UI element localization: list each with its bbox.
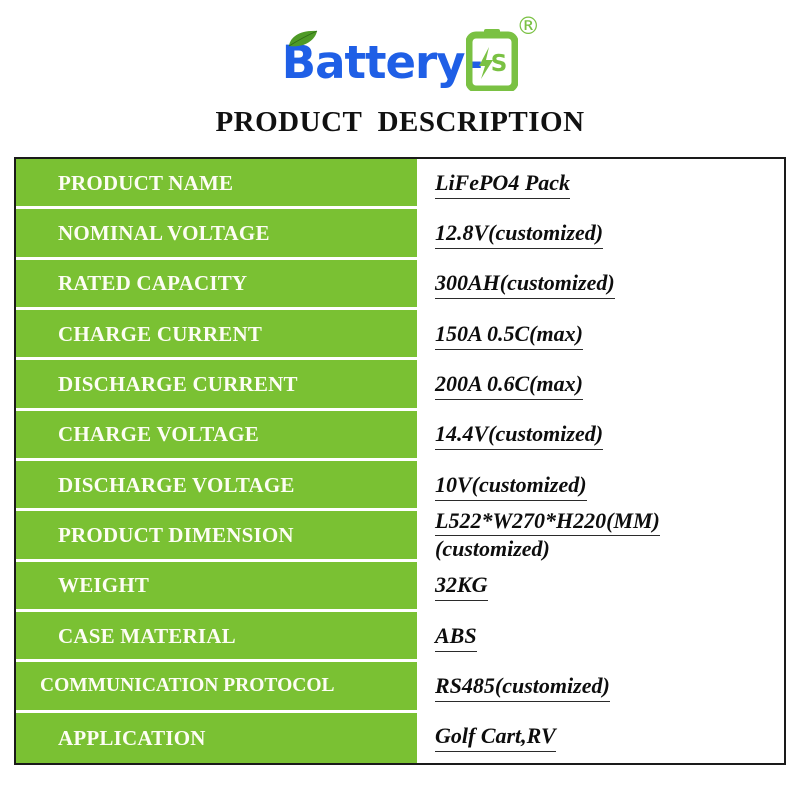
spec-label-discharge-current: DISCHARGE CURRENT xyxy=(16,360,417,410)
table-row: CHARGE VOLTAGE 14.4V(customized) xyxy=(16,411,784,461)
battery-icon-letter: S xyxy=(491,51,508,77)
spec-label-discharge-voltage: DISCHARGE VOLTAGE xyxy=(16,461,417,511)
leaf-icon xyxy=(288,30,318,47)
product-description-page: Battery- S ® PRODUCT DESCRIPTION xyxy=(0,0,800,800)
spec-value-case-material: ABS xyxy=(417,612,784,662)
table-row: DISCHARGE CURRENT 200A 0.6C(max) xyxy=(16,360,784,410)
spec-value-text: LiFePO4 Pack xyxy=(435,170,570,199)
logo-wordmark-group: Battery- xyxy=(282,28,482,85)
registered-trademark-icon: ® xyxy=(516,14,540,38)
spec-label-charge-voltage: CHARGE VOLTAGE xyxy=(16,411,417,461)
spec-label-weight: WEIGHT xyxy=(16,562,417,612)
specification-table: PRODUCT NAME LiFePO4 Pack NOMINAL VOLTAG… xyxy=(14,157,786,765)
spec-value-text: 200A 0.6C(max) xyxy=(435,371,583,400)
spec-value-nominal-voltage: 12.8V(customized) xyxy=(417,209,784,259)
table-row: NOMINAL VOLTAGE 12.8V(customized) xyxy=(16,209,784,259)
spec-value-text: 12.8V(customized) xyxy=(435,220,603,249)
spec-value-text-line1: L522*W270*H220(MM) xyxy=(435,508,660,537)
table-row: PRODUCT NAME LiFePO4 Pack xyxy=(16,159,784,209)
spec-value-application: Golf Cart,RV xyxy=(417,713,784,763)
spec-label-communication-protocol: COMMUNICATION PROTOCOL xyxy=(16,662,417,712)
brand-logo: Battery- S ® xyxy=(0,14,800,98)
table-row: COMMUNICATION PROTOCOL RS485(customized) xyxy=(16,662,784,712)
battery-icon-svg: S xyxy=(466,29,518,91)
spec-value-text: 150A 0.5C(max) xyxy=(435,321,583,350)
table-row: CASE MATERIAL ABS xyxy=(16,612,784,662)
table-row: RATED CAPACITY 300AH(customized) xyxy=(16,260,784,310)
spec-label-rated-capacity: RATED CAPACITY xyxy=(16,260,417,310)
battery-icon: S xyxy=(466,29,518,91)
spec-label-product-name: PRODUCT NAME xyxy=(16,159,417,209)
spec-value-rated-capacity: 300AH(customized) xyxy=(417,260,784,310)
spec-value-text: 10V(customized) xyxy=(435,472,587,501)
spec-value-discharge-voltage: 10V(customized) xyxy=(417,461,784,511)
spec-value-text: 14.4V(customized) xyxy=(435,421,603,450)
spec-value-text: RS485(customized) xyxy=(435,673,610,702)
table-row: CHARGE CURRENT 150A 0.5C(max) xyxy=(16,310,784,360)
table-row: PRODUCT DIMENSION L522*W270*H220(MM) (cu… xyxy=(16,511,784,561)
spec-value-text: 32KG xyxy=(435,572,488,601)
table-row: WEIGHT 32KG xyxy=(16,562,784,612)
table-row: DISCHARGE VOLTAGE 10V(customized) xyxy=(16,461,784,511)
spec-value-text: ABS xyxy=(435,623,477,652)
spec-value-communication-protocol: RS485(customized) xyxy=(417,662,784,712)
spec-value-discharge-current: 200A 0.6C(max) xyxy=(417,360,784,410)
spec-value-charge-current: 150A 0.5C(max) xyxy=(417,310,784,360)
spec-label-product-dimension: PRODUCT DIMENSION xyxy=(16,511,417,561)
spec-value-charge-voltage: 14.4V(customized) xyxy=(417,411,784,461)
spec-value-product-name: LiFePO4 Pack xyxy=(417,159,784,209)
spec-value-weight: 32KG xyxy=(417,562,784,612)
spec-label-application: APPLICATION xyxy=(16,713,417,763)
spec-value-text: Golf Cart,RV xyxy=(435,723,556,752)
table-row: APPLICATION Golf Cart,RV xyxy=(16,713,784,763)
spec-value-product-dimension: L522*W270*H220(MM) (customized) xyxy=(417,511,784,561)
spec-label-nominal-voltage: NOMINAL VOLTAGE xyxy=(16,209,417,259)
page-title: PRODUCT DESCRIPTION xyxy=(0,106,800,139)
spec-value-text: 300AH(customized) xyxy=(435,270,615,299)
logo-inner: Battery- S ® xyxy=(282,14,518,98)
spec-label-case-material: CASE MATERIAL xyxy=(16,612,417,662)
spec-label-charge-current: CHARGE CURRENT xyxy=(16,310,417,360)
